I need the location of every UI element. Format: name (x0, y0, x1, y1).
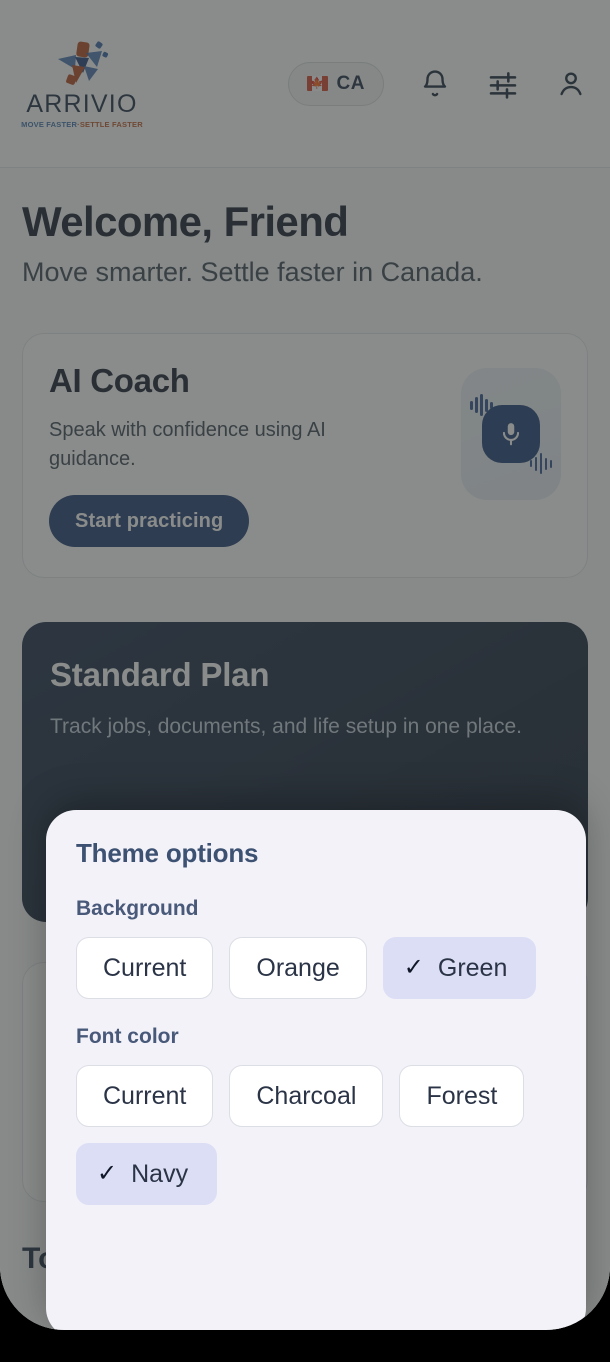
font-color-option-navy-label: Navy (131, 1160, 188, 1189)
background-option-orange-label: Orange (256, 954, 339, 983)
background-options: ✓ Current ✓ Orange ✓ Green (76, 937, 556, 999)
font-color-option-charcoal-label: Charcoal (256, 1082, 356, 1111)
font-color-option-forest-label: Forest (426, 1082, 497, 1111)
background-option-current[interactable]: ✓ Current (76, 937, 213, 999)
font-color-option-forest[interactable]: ✓ Forest (399, 1065, 524, 1127)
background-option-orange[interactable]: ✓ Orange (229, 937, 366, 999)
background-option-green[interactable]: ✓ Green (383, 937, 537, 999)
theme-options-sheet: Theme options Background ✓ Current ✓ Ora… (46, 810, 586, 1330)
device-frame: ARRIVIO MOVE FASTER·SETTLE FASTER 🍁 CA (0, 0, 610, 1362)
font-color-option-charcoal[interactable]: ✓ Charcoal (229, 1065, 383, 1127)
background-group-label: Background (76, 897, 556, 921)
font-color-options: ✓ Current ✓ Charcoal ✓ Forest ✓ Navy (76, 1065, 556, 1205)
theme-options-title: Theme options (76, 838, 556, 869)
app-screen: ARRIVIO MOVE FASTER·SETTLE FASTER 🍁 CA (0, 0, 610, 1330)
font-color-option-current-label: Current (103, 1082, 186, 1111)
font-color-option-navy[interactable]: ✓ Navy (76, 1143, 217, 1205)
check-icon: ✓ (97, 1162, 117, 1186)
background-option-current-label: Current (103, 954, 186, 983)
check-icon: ✓ (404, 956, 424, 980)
font-color-group-label: Font color (76, 1025, 556, 1049)
background-option-green-label: Green (438, 954, 507, 983)
font-color-option-current[interactable]: ✓ Current (76, 1065, 213, 1127)
